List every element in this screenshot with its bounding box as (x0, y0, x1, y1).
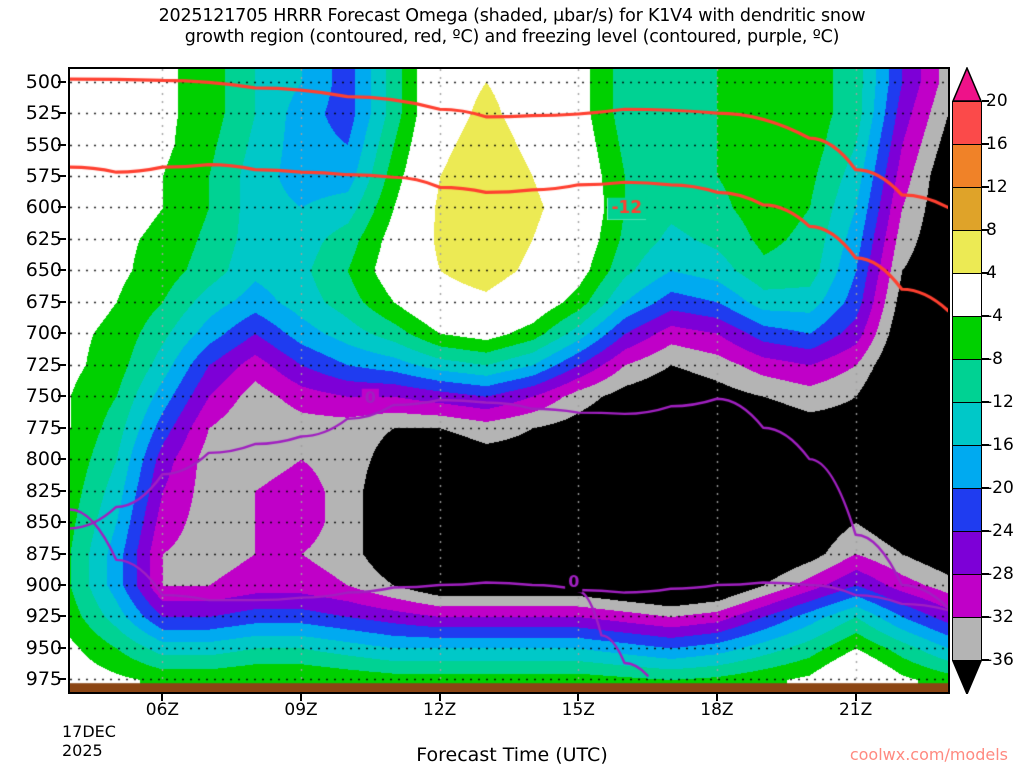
colorbar-tick-mark (982, 401, 989, 403)
x-axis-tick-label: 18Z (700, 700, 733, 720)
y-axis-tick-mark (58, 584, 66, 586)
colorbar-band (952, 402, 982, 446)
y-axis-tick-mark (58, 647, 66, 649)
colorbar-tick-label: -36 (986, 650, 1014, 670)
omega-field-canvas (70, 69, 948, 692)
y-axis-tick-mark (58, 458, 66, 460)
colorbar: 20161284-4-8-12-16-20-24-28-32-36 (952, 67, 982, 694)
colorbar-tick-label: 20 (986, 91, 1008, 111)
y-axis-tick-mark (58, 678, 66, 680)
y-axis-tick-mark (58, 301, 66, 303)
x-axis-tick-label: 12Z (423, 700, 456, 720)
y-axis-tick-mark (58, 395, 66, 397)
colorbar-band (952, 531, 982, 575)
y-axis-tick-label: 525 (26, 102, 62, 124)
y-axis-tick-label: 850 (26, 511, 62, 533)
colorbar-band (952, 273, 982, 317)
x-axis-tick-label: 21Z (839, 700, 872, 720)
y-axis-tick-label: 625 (26, 228, 62, 250)
y-axis-tick-label: 975 (26, 668, 62, 690)
colorbar-band (952, 187, 982, 231)
chart-title-line2: growth region (contoured, red, ºC) and f… (185, 27, 840, 47)
y-axis-tick-label: 600 (26, 196, 62, 218)
colorbar-band (952, 574, 982, 618)
chart-title-line1: 2025121705 HRRR Forecast Omega (shaded, … (159, 6, 866, 26)
y-axis-tick-label: 950 (26, 637, 62, 659)
y-axis-tick-mark (58, 238, 66, 240)
colorbar-tick-mark (982, 272, 989, 274)
y-axis-tick-label: 575 (26, 165, 62, 187)
y-axis-tick-label: 925 (26, 605, 62, 627)
x-axis-tick-mark (577, 694, 579, 701)
y-axis-tick-mark (58, 206, 66, 208)
watermark: coolwx.com/models (850, 745, 1008, 764)
colorbar-tick-mark (982, 143, 989, 145)
colorbar-tick-label: -32 (986, 607, 1014, 627)
colorbar-tick-mark (982, 573, 989, 575)
colorbar-tick-mark (982, 315, 989, 317)
y-axis-tick-mark (58, 144, 66, 146)
y-axis-tick-mark (58, 427, 66, 429)
colorbar-tick-label: -12 (986, 392, 1014, 412)
y-axis-tick-label: 675 (26, 291, 62, 313)
colorbar-top-arrow (952, 67, 982, 101)
y-axis-tick-label: 800 (26, 448, 62, 470)
y-axis-tick-mark (58, 521, 66, 523)
colorbar-tick-mark (982, 659, 989, 661)
x-axis-tick-label: 09Z (284, 700, 317, 720)
y-axis-tick-label: 825 (26, 480, 62, 502)
colorbar-tick-mark (982, 358, 989, 360)
y-axis-tick-label: 875 (26, 543, 62, 565)
y-axis-tick-label: 750 (26, 385, 62, 407)
colorbar-tick-mark (982, 444, 989, 446)
colorbar-band (952, 488, 982, 532)
y-axis-tick-label: 500 (26, 71, 62, 93)
chart-title: 2025121705 HRRR Forecast Omega (shaded, … (0, 6, 1024, 48)
y-axis-tick-mark (58, 175, 66, 177)
y-axis-tick-mark (58, 364, 66, 366)
y-axis-tick-label: 650 (26, 259, 62, 281)
y-axis-tick-mark (58, 490, 66, 492)
x-axis-tick-mark (855, 694, 857, 701)
colorbar-band (952, 359, 982, 403)
colorbar-band (952, 316, 982, 360)
colorbar-band (952, 144, 982, 188)
colorbar-tick-label: -16 (986, 435, 1014, 455)
y-axis-tick-mark (58, 269, 66, 271)
y-axis-tick-label: 775 (26, 417, 62, 439)
colorbar-tick-mark (982, 186, 989, 188)
x-axis-tick-mark (161, 694, 163, 701)
x-axis-tick-mark (716, 694, 718, 701)
plot-area (68, 67, 950, 694)
colorbar-tick-label: -20 (986, 478, 1014, 498)
y-axis-tick-mark (58, 112, 66, 114)
colorbar-tick-mark (982, 229, 989, 231)
y-axis-tick-mark (58, 615, 66, 617)
y-axis-tick-label: 725 (26, 354, 62, 376)
colorbar-band (952, 101, 982, 145)
colorbar-tick-mark (982, 616, 989, 618)
y-axis-tick-label: 700 (26, 322, 62, 344)
y-axis-tick-label: 900 (26, 574, 62, 596)
colorbar-band (952, 617, 982, 661)
colorbar-tick-label: -24 (986, 521, 1014, 541)
colorbar-band (952, 445, 982, 489)
y-axis-tick-mark (58, 553, 66, 555)
x-axis-tick-label: 15Z (562, 700, 595, 720)
x-axis-tick-label: 06Z (146, 700, 179, 720)
colorbar-tick-label: -28 (986, 564, 1014, 584)
y-axis-tick-mark (58, 81, 66, 83)
colorbar-band (952, 230, 982, 274)
colorbar-tick-label: 12 (986, 177, 1008, 197)
x-axis-tick-mark (300, 694, 302, 701)
x-axis-tick-mark (439, 694, 441, 701)
y-axis-tick-mark (58, 332, 66, 334)
colorbar-bottom-arrow (952, 660, 982, 694)
y-axis-tick-label: 550 (26, 134, 62, 156)
colorbar-tick-label: 16 (986, 134, 1008, 154)
colorbar-tick-mark (982, 487, 989, 489)
colorbar-tick-mark (982, 100, 989, 102)
colorbar-tick-mark (982, 530, 989, 532)
